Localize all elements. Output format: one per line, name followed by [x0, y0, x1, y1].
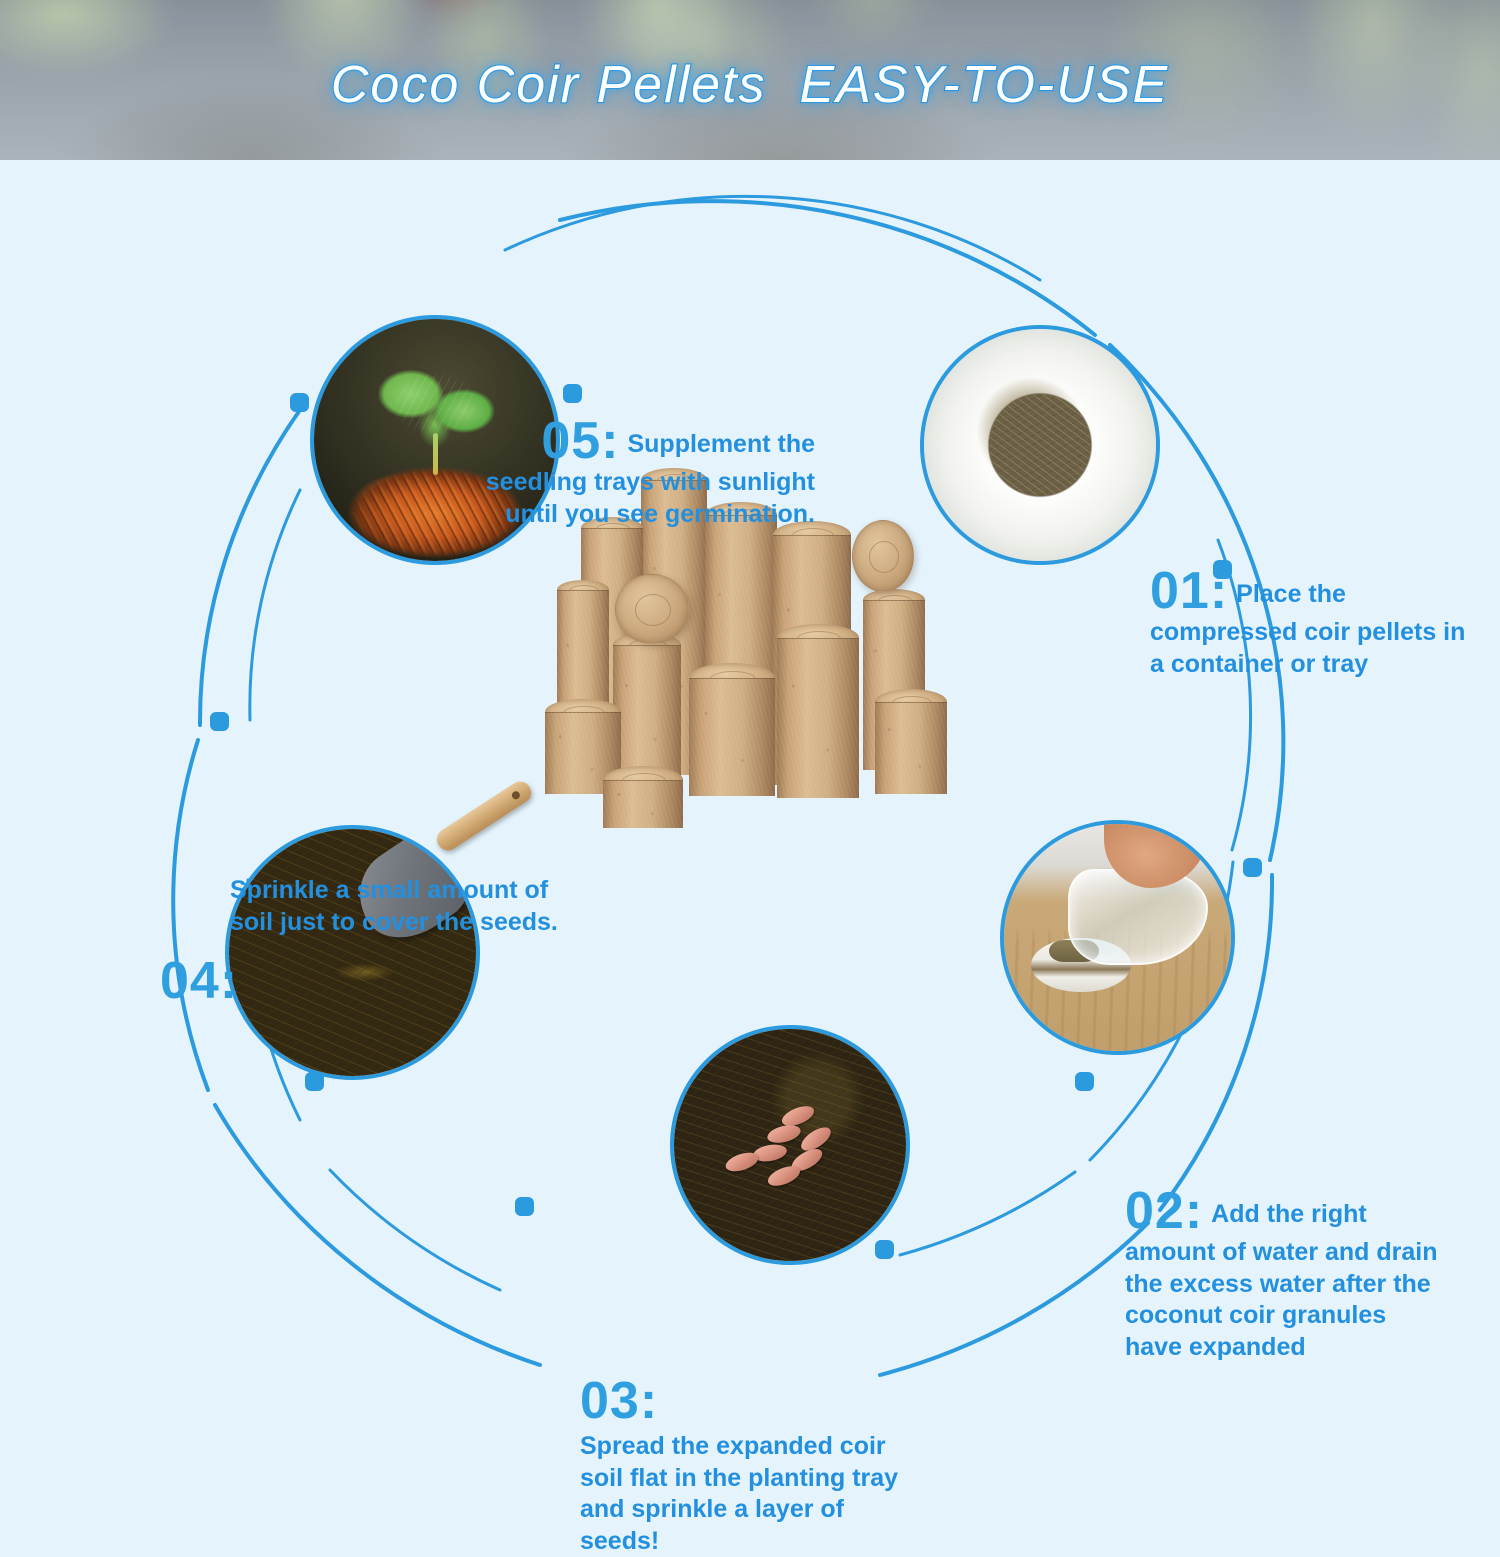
- step-04-number-wrap: 04:: [160, 955, 238, 1007]
- node-left-upper: [290, 393, 309, 412]
- pellet-lying: [615, 574, 689, 644]
- arc-inner-bottom-right: [900, 1172, 1075, 1255]
- step-01-text: 01:Place the compressed coir pellets in …: [1150, 565, 1480, 680]
- step-04-number: 04:: [160, 952, 238, 1010]
- pellet-lying: [852, 520, 914, 592]
- step-04-text: Sprinkle a small amount of soil just to …: [230, 875, 560, 938]
- step-03-body: Spread the expanded coir soil flat in th…: [580, 1432, 898, 1555]
- step-photo-03: [670, 1025, 910, 1265]
- node-left-mid: [210, 712, 229, 731]
- step-03-number: 03:: [580, 1375, 910, 1427]
- step-03-text: 03: Spread the expanded coir soil flat i…: [580, 1375, 910, 1557]
- step-photo-04: [225, 825, 480, 1080]
- soil-fiber-texture: [674, 1029, 906, 1261]
- step-01-number: 01:: [1150, 562, 1228, 620]
- page-title: Coco Coir Pellets EASY-TO-USE: [0, 55, 1500, 115]
- step-05-body: Supplement the seedling trays with sunli…: [486, 430, 815, 528]
- header-banner: Coco Coir Pellets EASY-TO-USE: [0, 0, 1500, 160]
- step-02-text: 02:Add the right amount of water and dra…: [1125, 1185, 1445, 1363]
- step-photo-02: [1000, 820, 1235, 1055]
- node-bottom-right-upper: [1075, 1072, 1094, 1091]
- node-bottom-left: [515, 1197, 534, 1216]
- step-05-number: 05:: [541, 412, 619, 470]
- arc-outer-left-lower: [173, 740, 208, 1090]
- step-04-body: Sprinkle a small amount of soil just to …: [230, 876, 558, 936]
- arc-outer-bottom-left: [215, 1105, 540, 1365]
- arc-inner-left-upper: [250, 490, 300, 720]
- arc-outer-top: [560, 201, 1095, 335]
- node-top-left: [563, 384, 582, 403]
- arc-inner-bottom-left: [330, 1170, 500, 1290]
- step-05-text: 05:Supplement the seedling trays with su…: [455, 415, 815, 530]
- arc-inner-top: [505, 196, 1040, 280]
- infographic-stage: 05:Supplement the seedling trays with su…: [0, 160, 1500, 1500]
- arc-outer-bottom-right: [880, 1223, 1148, 1375]
- node-right-lower: [1243, 858, 1262, 877]
- step-02-number: 02:: [1125, 1182, 1203, 1240]
